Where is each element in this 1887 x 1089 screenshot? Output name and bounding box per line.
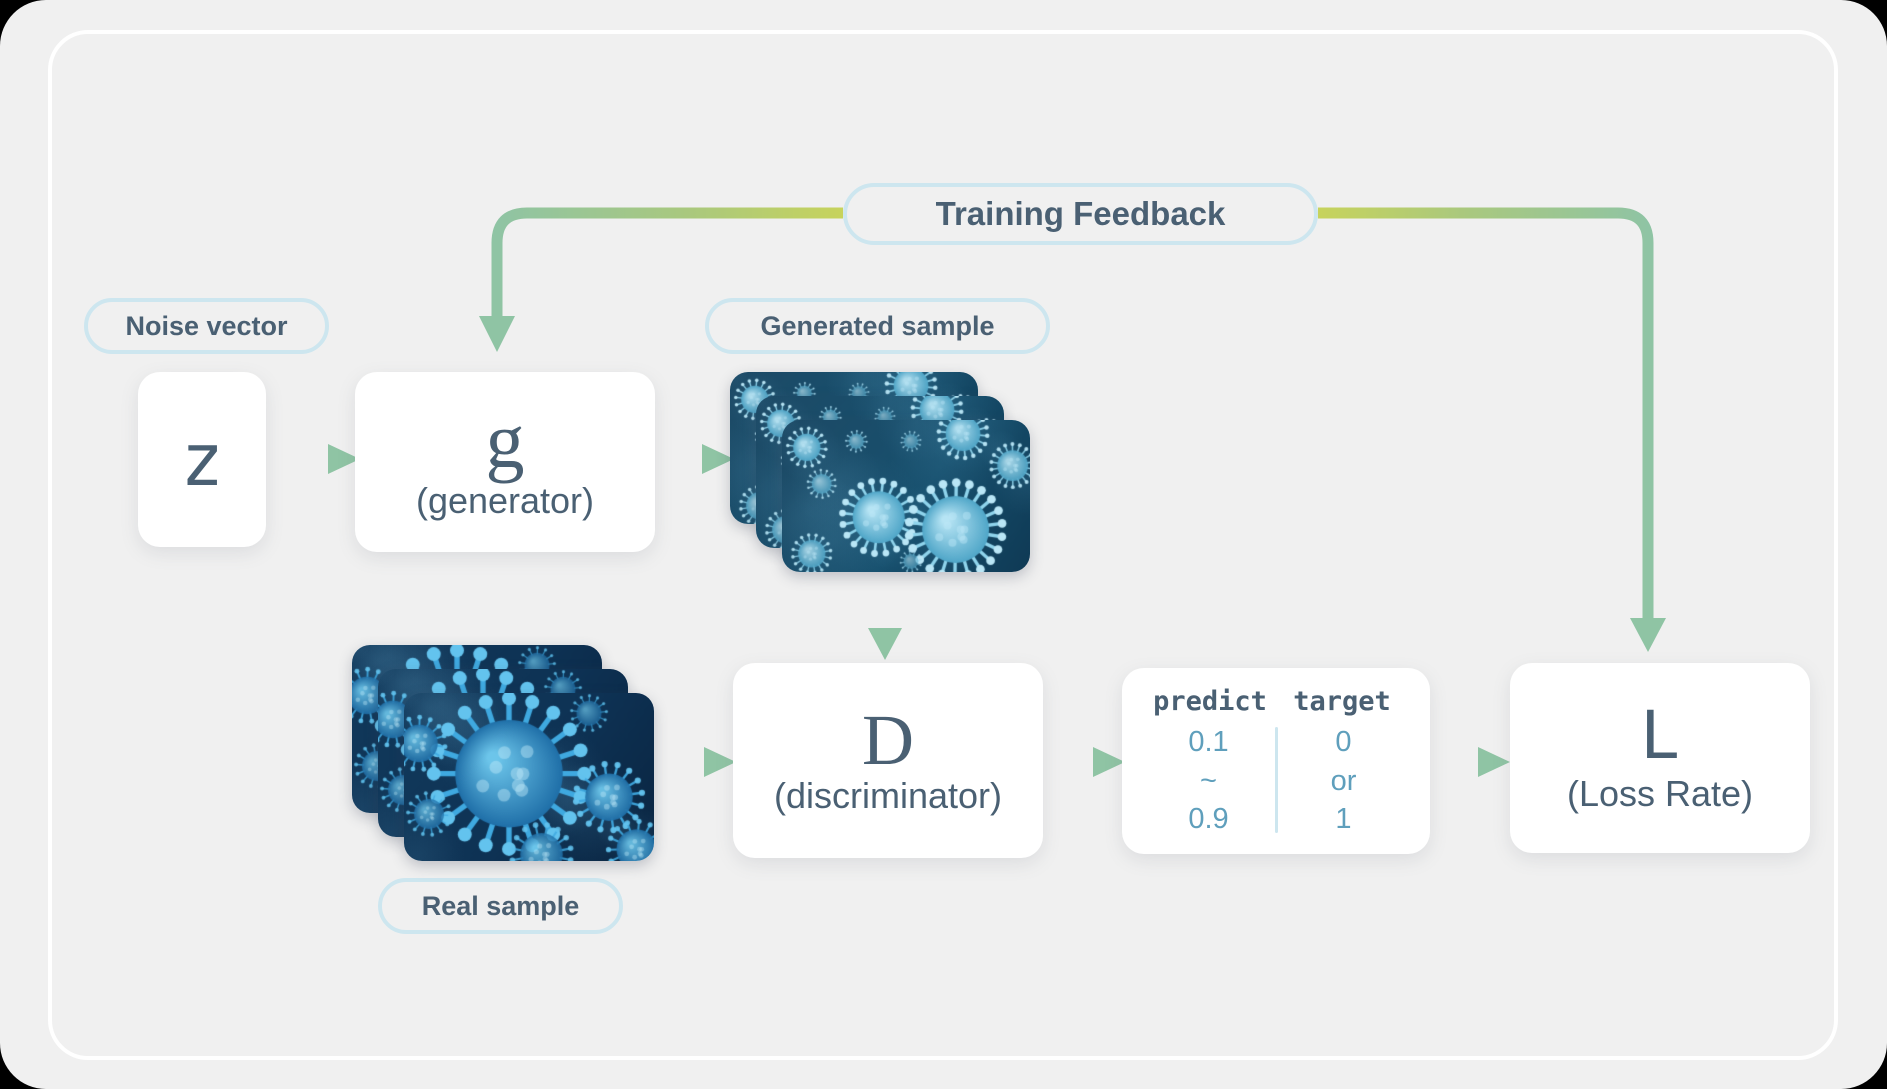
node-discriminator-caption: (discriminator)	[774, 777, 1002, 815]
node-loss-glyph: L	[1640, 703, 1680, 769]
target-values-column: 0 or 1	[1278, 723, 1410, 839]
predict-value-0: 0.1	[1143, 723, 1275, 762]
predict-target-headers: predict target	[1122, 686, 1430, 717]
gan-diagram-canvas: Noise vector Training Feedback Generated…	[0, 0, 1887, 1089]
label-generated-sample: Generated sample	[705, 298, 1050, 354]
label-real-sample-text: Real sample	[422, 891, 580, 922]
arrow-z-to-generator	[262, 444, 360, 474]
label-training-feedback-text: Training Feedback	[936, 195, 1226, 233]
predict-value-2: 0.9	[1143, 800, 1275, 839]
label-training-feedback: Training Feedback	[843, 183, 1318, 245]
node-noise-vector[interactable]: z	[138, 372, 266, 547]
node-loss-caption: (Loss Rate)	[1567, 775, 1753, 813]
arrow-predict-target-to-loss	[1430, 747, 1510, 777]
node-discriminator[interactable]: D (discriminator)	[733, 663, 1043, 858]
feedback-path-right	[1318, 213, 1666, 652]
node-generator[interactable]: g (generator)	[355, 372, 655, 552]
real-sample-stack[interactable]	[352, 645, 662, 865]
node-discriminator-glyph: D	[862, 706, 914, 774]
node-loss-rate[interactable]: L (Loss Rate)	[1510, 663, 1810, 853]
arrow-discriminator-to-predict-target	[1045, 747, 1125, 777]
arrow-real-sample-to-discriminator	[652, 747, 736, 777]
node-generator-caption: (generator)	[416, 482, 594, 520]
predict-target-box[interactable]: predict target 0.1 ~ 0.9 0 or 1	[1122, 668, 1430, 854]
arrow-generator-to-generated-sample	[654, 444, 734, 474]
arrow-generated-sample-to-discriminator	[868, 572, 902, 660]
generated-sample-stack[interactable]	[730, 372, 1040, 572]
label-generated-sample-text: Generated sample	[760, 311, 994, 342]
label-noise-vector-text: Noise vector	[125, 311, 287, 342]
predict-value-1: ~	[1143, 762, 1275, 801]
target-value-1: or	[1278, 762, 1410, 801]
predict-target-values: 0.1 ~ 0.9 0 or 1	[1122, 723, 1430, 839]
predict-header: predict	[1144, 686, 1276, 717]
target-value-0: 0	[1278, 723, 1410, 762]
label-noise-vector: Noise vector	[84, 298, 329, 354]
generated-sample-sheet-1	[782, 420, 1030, 572]
label-real-sample: Real sample	[378, 878, 623, 934]
node-generator-glyph: g	[486, 404, 525, 478]
target-value-2: 1	[1278, 800, 1410, 839]
predict-values-column: 0.1 ~ 0.9	[1143, 723, 1275, 839]
target-header: target	[1276, 686, 1408, 717]
real-sample-sheet-1	[404, 693, 654, 861]
node-noise-glyph: z	[180, 424, 223, 496]
